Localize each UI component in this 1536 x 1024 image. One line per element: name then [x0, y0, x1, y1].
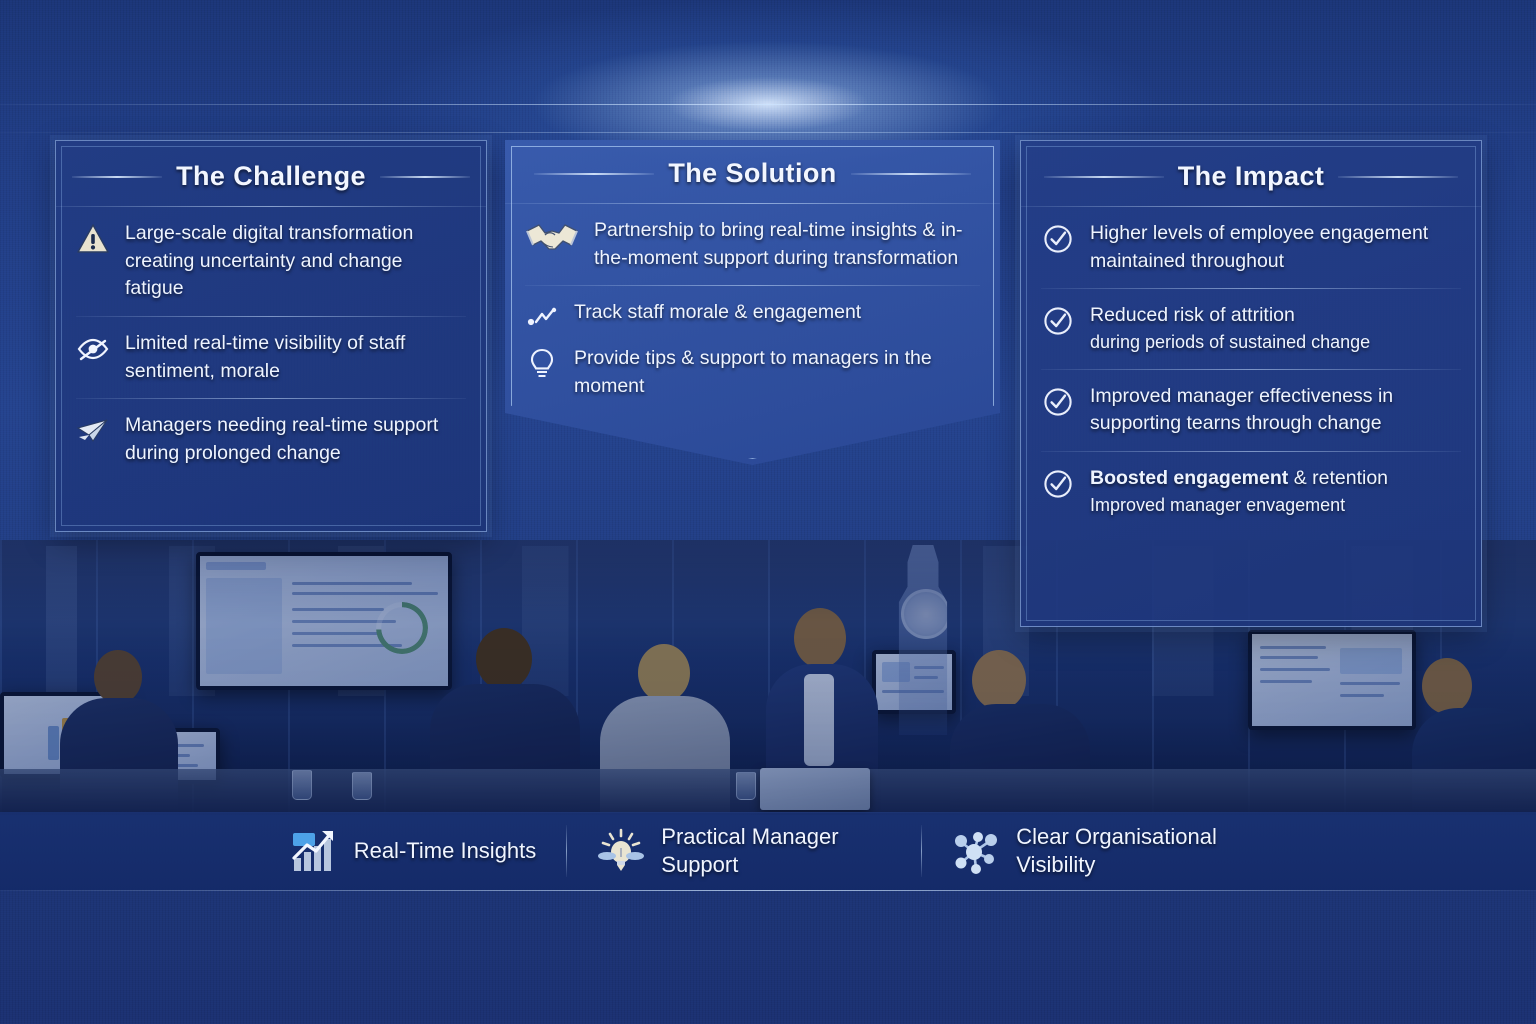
impact-item-2-sub: during periods of sustained change	[1090, 330, 1370, 356]
impact-item-4-rest: & retention	[1288, 467, 1388, 489]
paper-plane-icon	[76, 414, 110, 448]
footer-rule-bottom	[0, 890, 1536, 891]
impact-item-1-text: Higher levels of employee engagement mai…	[1090, 220, 1459, 275]
solution-item-3: Provide tips & support to managers in th…	[505, 339, 1000, 413]
title-dash-left	[72, 176, 162, 178]
activity-pulse-icon	[525, 301, 559, 335]
top-rule-upper	[0, 104, 1536, 105]
water-glass-left	[292, 770, 312, 800]
solution-item-1: Partnership to bring real-time insights …	[505, 204, 1000, 285]
challenge-item-3-text: Managers needing real-time support durin…	[125, 412, 464, 467]
top-rule-lower	[0, 132, 1536, 133]
solution-item-3-text: Provide tips & support to managers in th…	[574, 345, 978, 400]
impact-item-4-text: Boosted engagement & retentionImproved m…	[1090, 465, 1388, 518]
footer-label-1: Real-Time Insights	[354, 837, 537, 865]
lightbulb-icon	[525, 347, 559, 381]
panel-solution-title: The Solution	[668, 158, 836, 189]
clock-face	[901, 589, 951, 639]
footer-label-2: Practical Manager Support	[661, 823, 891, 879]
panel-challenge: The Challenge Large-scale digital transf…	[55, 140, 487, 532]
title-dash-left	[534, 173, 654, 175]
circle-check-icon	[1041, 385, 1075, 419]
panel-impact-title-row: The Impact	[1021, 161, 1481, 192]
panel-solution: The Solution Partnership to bring real-t…	[505, 140, 1000, 465]
dashboard-gauge	[376, 602, 428, 654]
bar-chart-growth-icon	[290, 827, 338, 875]
panel-challenge-title-row: The Challenge	[56, 161, 486, 192]
water-glass-right	[736, 772, 756, 800]
impact-item-3-text: Improved manager effectiveness in suppor…	[1090, 383, 1459, 438]
solution-item-1-text: Partnership to bring real-time insights …	[594, 217, 978, 272]
footer-item-real-time-insights[interactable]: Real-Time Insights	[260, 827, 567, 875]
title-dash-right	[851, 173, 971, 175]
eye-off-icon	[76, 332, 110, 366]
challenge-item-2-text: Limited real-time visibility of staff se…	[125, 330, 464, 385]
laptop-on-table	[760, 768, 870, 810]
challenge-item-2: Limited real-time visibility of staff se…	[56, 317, 486, 398]
panel-challenge-title: The Challenge	[176, 161, 366, 192]
circle-check-icon	[1041, 222, 1075, 256]
footer-bar: Real-Time Insights Practical Manager Sup…	[0, 812, 1536, 890]
impact-item-4-bold: Boosted engagement	[1090, 467, 1288, 489]
panel-impact-title: The Impact	[1178, 161, 1325, 192]
handshake-icon	[525, 219, 579, 259]
impact-item-4: Boosted engagement & retentionImproved m…	[1021, 452, 1481, 531]
challenge-item-1-text: Large-scale digital transformation creat…	[125, 220, 464, 303]
impact-item-2-text: Reduced risk of attritionduring periods …	[1090, 302, 1370, 355]
challenge-item-1: Large-scale digital transformation creat…	[56, 207, 486, 316]
water-glass-mid	[352, 772, 372, 800]
footer-item-practical-manager-support[interactable]: Practical Manager Support	[567, 823, 921, 879]
panel-solution-title-row: The Solution	[505, 158, 1000, 189]
impact-item-2-main: Reduced risk of attrition	[1090, 304, 1295, 326]
challenge-item-3: Managers needing real-time support durin…	[56, 399, 486, 480]
impact-item-4-sub: Improved manager envagement	[1090, 493, 1388, 519]
solution-item-2: Track staff morale & engagement	[505, 286, 1000, 339]
impact-item-1: Higher levels of employee engagement mai…	[1021, 207, 1481, 288]
solution-item-2-text: Track staff morale & engagement	[574, 299, 861, 327]
network-nodes-icon	[952, 827, 1000, 875]
lightbulb-idea-icon	[597, 827, 645, 875]
title-dash-right	[380, 176, 470, 178]
title-dash-right	[1338, 176, 1458, 178]
wall-display	[196, 552, 452, 690]
impact-item-3: Improved manager effectiveness in suppor…	[1021, 370, 1481, 451]
footer-item-clear-organisational-visibility[interactable]: Clear Organisational Visibility	[922, 823, 1276, 879]
panel-impact: The Impact Higher levels of employee eng…	[1020, 140, 1482, 627]
infographic-canvas: The Challenge Large-scale digital transf…	[0, 0, 1536, 1024]
title-dash-left	[1044, 176, 1164, 178]
warning-triangle-icon	[76, 222, 110, 256]
circle-check-icon	[1041, 304, 1075, 338]
circle-check-icon	[1041, 467, 1075, 501]
right-desk-monitor	[1248, 630, 1416, 730]
footer-label-3: Clear Organisational Visibility	[1016, 823, 1246, 879]
impact-item-2: Reduced risk of attritionduring periods …	[1021, 289, 1481, 368]
